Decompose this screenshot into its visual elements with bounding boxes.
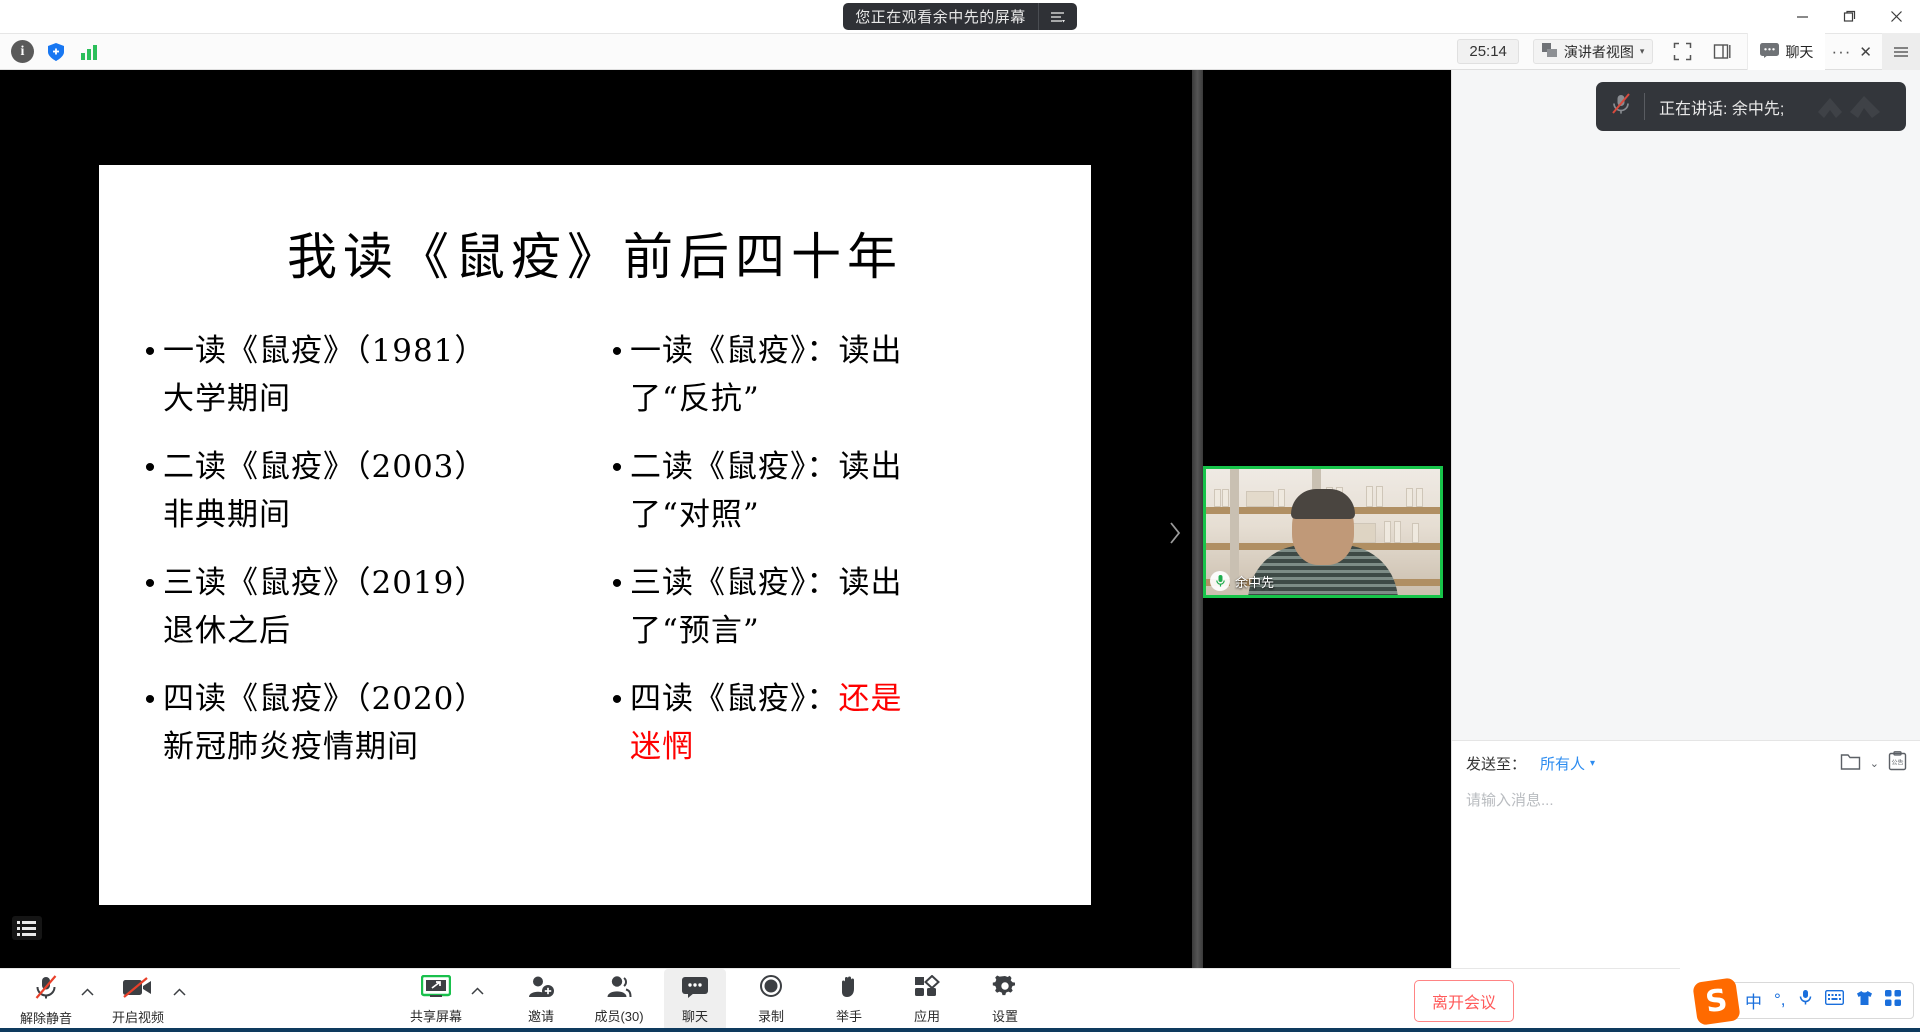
toolbar-chat-label: 聊天: [1785, 42, 1813, 62]
slide-columns: • 一读《鼠疫》（1981） 大学期间 • 二读《鼠疫》（2003） 非典期间: [99, 327, 1091, 791]
mic-options-chevron-icon[interactable]: [78, 988, 106, 1014]
bullet-line-1: 一读《鼠疫》：读出: [630, 327, 903, 375]
list-menu-icon[interactable]: [1039, 3, 1077, 30]
bullet-text: 一读《鼠疫》（1981） 大学期间: [163, 327, 486, 423]
bullet-text: 四读《鼠疫》（2020） 新冠肺炎疫情期间: [163, 675, 486, 771]
annotation-list-icon[interactable]: [10, 915, 44, 941]
toolbar-chat-button[interactable]: 聊天: [1747, 33, 1825, 70]
window-controls: [1779, 0, 1920, 33]
list-item: • 一读《鼠疫》（1981） 大学期间: [137, 327, 604, 423]
list-item: • 二读《鼠疫》（2003） 非典期间: [137, 443, 604, 539]
send-to-row: 发送至： 所有人 ▾ ⌄ 公告: [1452, 741, 1920, 785]
bullet-line-1: 三读《鼠疫》：读出: [630, 559, 903, 607]
invite-user-icon: [527, 975, 555, 1004]
screen-share-banner[interactable]: 您正在观看余中先的屏幕: [843, 3, 1077, 30]
bullet-line-2: 了“预言”: [630, 607, 903, 655]
info-icon[interactable]: i: [11, 40, 34, 63]
shield-plus-icon[interactable]: [44, 40, 67, 63]
bullet-text: 二读《鼠疫》（2003） 非典期间: [163, 443, 486, 539]
apps-icon: [914, 975, 940, 1004]
list-item: • 四读《鼠疫》（2020） 新冠肺炎疫情期间: [137, 675, 604, 771]
list-item: • 二读《鼠疫》：读出 了“对照”: [604, 443, 1071, 539]
share-options-chevron-icon[interactable]: [468, 987, 496, 1013]
windows-taskbar: [0, 1028, 1920, 1032]
bullet-glyph: •: [137, 559, 163, 655]
meeting-toolbar: i 25:14 演讲者视图 ▾: [0, 33, 1920, 70]
leave-meeting-button[interactable]: 离开会议: [1414, 980, 1514, 1022]
keyboard-icon[interactable]: [1825, 990, 1844, 1010]
bullet-line-2: 了“对照”: [630, 491, 903, 539]
presentation-slide: 我读《鼠疫》前后四十年 • 一读《鼠疫》（1981） 大学期间 • 二读《鼠疫》…: [99, 165, 1091, 905]
ime-mode-toggle[interactable]: 中: [1745, 988, 1762, 1013]
participant-hair: [1291, 489, 1355, 519]
bullet-glyph: •: [604, 327, 630, 423]
gear-icon: [992, 975, 1018, 1004]
chevron-down-icon[interactable]: ▾: [1590, 758, 1595, 769]
share-screen-button[interactable]: 共享屏幕: [404, 969, 468, 1031]
more-options-icon[interactable]: ···: [1825, 42, 1857, 62]
bullet-glyph: •: [604, 559, 630, 655]
microphone-muted-icon: [33, 974, 59, 1006]
tshirt-icon[interactable]: [1856, 990, 1873, 1011]
close-icon[interactable]: [1873, 0, 1920, 33]
hamburger-icon[interactable]: [1882, 33, 1920, 70]
minimize-icon[interactable]: [1779, 0, 1826, 33]
chat-panel: 正在讲话: 余中先; 发送至： 所有人 ▾ ⌄: [1451, 70, 1920, 968]
bullet-line-2: 退休之后: [163, 607, 486, 655]
bullet-line-1: 三读《鼠疫》（2019）: [163, 559, 486, 607]
participants-label: 成员(30): [594, 1006, 643, 1025]
chat-bubble-icon: [1760, 43, 1779, 61]
send-to-label: 发送至：: [1466, 753, 1526, 774]
participant-name-badge: 余中先: [1210, 571, 1274, 591]
fullscreen-icon[interactable]: [1667, 39, 1698, 65]
bullet-text: 三读《鼠疫》：读出 了“预言”: [630, 559, 903, 655]
toolbar-overflow: ··· ✕: [1825, 33, 1920, 70]
svg-text:公告: 公告: [1891, 759, 1903, 767]
participants-button[interactable]: 成员(30): [588, 969, 650, 1031]
bullet-line-1: 一读《鼠疫》（1981）: [163, 327, 486, 375]
chevron-down-icon: ▾: [1640, 46, 1645, 57]
send-to-value[interactable]: 所有人: [1540, 753, 1585, 774]
chat-label: 聊天: [682, 1006, 708, 1025]
participant-video-thumbnail[interactable]: 余中先: [1203, 466, 1443, 598]
meeting-actions: 共享屏幕 邀请 成员(30): [404, 968, 1036, 1032]
bullet-line-2: 大学期间: [163, 375, 486, 423]
settings-button[interactable]: 设置: [974, 969, 1036, 1031]
apps-label: 应用: [914, 1006, 940, 1025]
list-item: • 三读《鼠疫》（2019） 退休之后: [137, 559, 604, 655]
raise-hand-label: 举手: [836, 1006, 862, 1025]
composer-actions: ⌄ 公告: [1840, 751, 1907, 775]
record-label: 录制: [758, 1006, 784, 1025]
toolbar-left-icons: i: [0, 40, 100, 63]
bullet-highlight: 还是: [839, 681, 903, 717]
slide-left-column: • 一读《鼠疫》（1981） 大学期间 • 二读《鼠疫》（2003） 非典期间: [137, 327, 604, 791]
folder-upload-icon[interactable]: [1840, 752, 1861, 775]
settings-label: 设置: [992, 1006, 1018, 1025]
bullet-line-1-text: 四读《鼠疫》：: [630, 681, 839, 717]
mute-button-label: 解除静音: [20, 1008, 72, 1027]
share-screen-label: 共享屏幕: [410, 1006, 462, 1025]
speaker-view-icon: [1542, 43, 1558, 61]
system-tray: S 中 °,: [1680, 968, 1920, 1032]
raise-hand-button[interactable]: 举手: [818, 969, 880, 1031]
view-mode-label: 演讲者视图: [1564, 42, 1634, 62]
ime-punctuation-toggle[interactable]: °,: [1774, 990, 1786, 1010]
chat-input[interactable]: 请输入消息...: [1452, 785, 1920, 814]
raise-hand-icon: [837, 975, 861, 1004]
slide-right-column: • 一读《鼠疫》：读出 了“反抗” • 二读《鼠疫》：读出 了“对照”: [604, 327, 1071, 791]
start-video-label: 开启视频: [112, 1007, 164, 1026]
bullet-line-1: 四读《鼠疫》：还是: [630, 675, 903, 723]
bullet-highlight-2: 迷惘: [630, 723, 903, 771]
share-screen-icon: [421, 975, 451, 1004]
bullet-line-2: 新冠肺炎疫情期间: [163, 723, 486, 771]
bullet-line-2: 非典期间: [163, 491, 486, 539]
invite-button[interactable]: 邀请: [510, 969, 572, 1031]
panel-resize-handle[interactable]: [1192, 70, 1203, 968]
sogou-logo-icon[interactable]: S: [1692, 977, 1741, 1026]
chat-composer: 发送至： 所有人 ▾ ⌄ 公告 请输入消息...: [1452, 740, 1920, 968]
list-item: • 四读《鼠疫》：还是 迷惘: [604, 675, 1071, 771]
microphone-icon[interactable]: [1798, 989, 1813, 1011]
bullet-text: 一读《鼠疫》：读出 了“反抗”: [630, 327, 903, 423]
split-view-icon[interactable]: [1707, 39, 1738, 65]
bullet-glyph: •: [137, 443, 163, 539]
slide-title: 我读《鼠疫》前后四十年: [99, 217, 1091, 289]
participants-icon: [605, 975, 633, 1004]
expand-panel-chevron-icon[interactable]: [1167, 520, 1183, 552]
screen-share-banner-text: 您正在观看余中先的屏幕: [855, 6, 1038, 27]
bullet-line-1: 二读《鼠疫》（2003）: [163, 443, 486, 491]
meeting-timer: 25:14: [1457, 39, 1519, 64]
list-item: • 一读《鼠疫》：读出 了“反抗”: [604, 327, 1071, 423]
toolbar-right-controls: 25:14 演讲者视图 ▾: [1457, 33, 1920, 70]
bullet-line-1: 四读《鼠疫》（2020）: [163, 675, 486, 723]
list-item: • 三读《鼠疫》：读出 了“预言”: [604, 559, 1071, 655]
av-controls: 解除静音 开启视频: [0, 970, 198, 1032]
signal-bars-icon[interactable]: [77, 40, 100, 63]
chat-message-list[interactable]: [1452, 70, 1920, 740]
panel-close-icon[interactable]: ✕: [1857, 43, 1882, 61]
bullet-glyph: •: [137, 675, 163, 771]
window-title-bar: 您正在观看余中先的屏幕: [0, 0, 1920, 33]
announcement-icon[interactable]: 公告: [1888, 751, 1907, 775]
bullet-text: 二读《鼠疫》：读出 了“对照”: [630, 443, 903, 539]
bullet-glyph: •: [604, 675, 630, 771]
chat-bubble-icon: [681, 975, 709, 1004]
video-off-icon: [122, 976, 154, 1005]
apps-grid-icon[interactable]: [1885, 990, 1901, 1011]
record-icon: [758, 975, 784, 1004]
participant-name: 余中先: [1235, 572, 1274, 591]
bullet-text: 四读《鼠疫》：还是 迷惘: [630, 675, 903, 771]
bullet-line-1: 二读《鼠疫》：读出: [630, 443, 903, 491]
mute-button[interactable]: 解除静音: [14, 970, 78, 1032]
view-mode-selector[interactable]: 演讲者视图 ▾: [1533, 39, 1654, 64]
apps-button[interactable]: 应用: [896, 969, 958, 1031]
maximize-icon[interactable]: [1826, 0, 1873, 33]
invite-label: 邀请: [528, 1006, 554, 1025]
start-video-button[interactable]: 开启视频: [106, 970, 170, 1032]
ime-toolbar[interactable]: S 中 °,: [1710, 982, 1914, 1019]
bullet-line-2: 了“反抗”: [630, 375, 903, 423]
microphone-icon: [1210, 571, 1230, 591]
chat-button[interactable]: 聊天: [664, 969, 726, 1031]
bullet-glyph: •: [137, 327, 163, 423]
chevron-down-icon[interactable]: ⌄: [1870, 757, 1879, 770]
video-options-chevron-icon[interactable]: [170, 988, 198, 1014]
record-button[interactable]: 录制: [740, 969, 802, 1031]
bullet-glyph: •: [604, 443, 630, 539]
bullet-text: 三读《鼠疫》（2019） 退休之后: [163, 559, 486, 655]
